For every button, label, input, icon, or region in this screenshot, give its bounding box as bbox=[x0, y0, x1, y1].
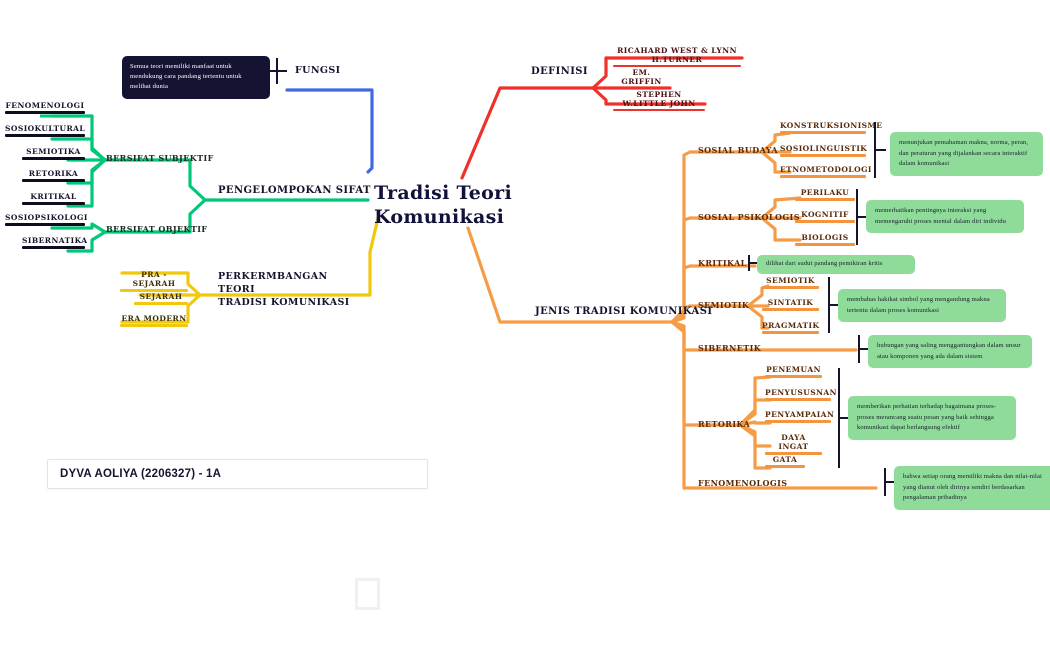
leaf-underline bbox=[22, 179, 85, 182]
center-title: Tradisi Teori Komunikasi bbox=[374, 182, 512, 230]
center-title-line1: Tradisi Teori bbox=[374, 182, 512, 206]
leaf-label: RETORIKA bbox=[22, 169, 85, 179]
leaf-sosiokultural[interactable]: SOSIOKULTURAL bbox=[5, 124, 85, 137]
note-retorika: memberikan perhatian terhadap bagaimana … bbox=[848, 396, 1016, 440]
group-label-semiotik[interactable]: SEMIOTIK bbox=[698, 300, 749, 310]
branch-label-definisi[interactable]: DEFINISI bbox=[531, 66, 588, 77]
author-name-box: DYVA AOLIYA (2206327) - 1A bbox=[47, 459, 428, 489]
leaf-sosiopsikologi[interactable]: SOSIOPSIKOLOGI bbox=[5, 213, 85, 226]
leaf-label: GATA bbox=[765, 455, 805, 465]
leaf-label: DAYA INGAT bbox=[765, 433, 822, 452]
branch-label-pengelompokan-sifat[interactable]: PENGELOMPOKAN SIFAT bbox=[218, 185, 371, 196]
leaf-label: PRA - SEJARAH bbox=[120, 270, 188, 289]
note-sibernetik: hubungan yang saling menggantungkan dala… bbox=[868, 335, 1032, 368]
leaf-label: SIBERNATIKA bbox=[22, 236, 85, 246]
leaf-ricahard-west-lynn-turner[interactable]: RICAHARD WEST & LYNN H.TURNER bbox=[613, 46, 741, 67]
leaf-biologis[interactable]: BIOLOGIS bbox=[795, 233, 855, 246]
leaf-label: PENYAMPAIAN bbox=[765, 410, 831, 420]
leaf-underline bbox=[134, 302, 188, 305]
branch-label-jenis-tradisi[interactable]: JENIS TRADISI KOMUNIKASI bbox=[535, 306, 712, 317]
leaf-label: PENYUSUSNAN bbox=[765, 388, 831, 398]
leaf-label: KOGNITIF bbox=[795, 210, 855, 220]
leaf-underline bbox=[795, 243, 855, 246]
note-semiotik: membahas hakikat simbol yang mengandung … bbox=[838, 289, 1006, 322]
group-label-fenomenologis[interactable]: FENOMENOLOGIS bbox=[698, 478, 787, 488]
leaf-retorika[interactable]: RETORIKA bbox=[22, 169, 85, 182]
leaf-label: SOSIOPSIKOLOGI bbox=[5, 213, 85, 223]
branch-label-bersifat-objektif[interactable]: BERSIFAT OBJEKTIF bbox=[106, 224, 208, 234]
leaf-stephen-w-little-john[interactable]: STEPHEN W.LITTLE JOHN bbox=[613, 90, 705, 111]
leaf-underline bbox=[613, 109, 705, 111]
leaf-underline bbox=[613, 65, 741, 67]
leaf-label: KONSTRUKSIONISME bbox=[780, 121, 866, 131]
mindmap-canvas: Tradisi Teori Komunikasi FUNGSI Semua te… bbox=[0, 0, 1050, 650]
branch-label-perkembangan[interactable]: PERKERMBANGAN TEORI TRADISI KOMUNIKASI bbox=[218, 271, 368, 309]
leaf-label: PENEMUAN bbox=[765, 365, 822, 375]
leaf-underline bbox=[780, 175, 866, 178]
leaf-pra-sejarah[interactable]: PRA - SEJARAH bbox=[120, 270, 188, 292]
leaf-label: SEJARAH bbox=[134, 292, 188, 302]
note-sosial-psikologis: memerhatikan pentingnya interaksi yang m… bbox=[866, 200, 1024, 233]
note-fungsi: Semua teori memiliki manfaat untuk mendu… bbox=[122, 56, 270, 99]
branch-label-bersifat-subjektif[interactable]: BERSIFAT SUBJEKTIF bbox=[106, 153, 214, 163]
note-fenomenologis: bahwa setiap orang memiliki makna dan ni… bbox=[894, 466, 1050, 510]
leaf-label: SEMIOTIKA bbox=[22, 147, 85, 157]
author-name-text: DYVA AOLIYA (2206327) - 1A bbox=[60, 468, 221, 480]
leaf-kognitif[interactable]: KOGNITIF bbox=[795, 210, 855, 223]
leaf-sosiolinguistik[interactable]: SOSIOLINGUISTIK bbox=[780, 144, 866, 157]
leaf-label: PRAGMATIK bbox=[762, 321, 819, 331]
leaf-label: EM. GRIFFIN bbox=[613, 68, 670, 87]
leaf-penyususnan[interactable]: PENYUSUSNAN bbox=[765, 388, 831, 401]
leaf-semiotika[interactable]: SEMIOTIKA bbox=[22, 147, 85, 160]
leaf-penyampaian[interactable]: PENYAMPAIAN bbox=[765, 410, 831, 423]
leaf-underline bbox=[22, 246, 85, 249]
leaf-underline bbox=[762, 308, 819, 311]
leaf-kritikal[interactable]: KRITIKAL bbox=[22, 192, 85, 205]
group-label-sosial-budaya[interactable]: SOSIAL BUDAYA bbox=[698, 145, 778, 155]
leaf-underline bbox=[765, 398, 831, 401]
leaf-perilaku[interactable]: PERILAKU bbox=[795, 188, 855, 201]
leaf-label: FENOMENOLOGI bbox=[5, 101, 85, 111]
leaf-label: RICAHARD WEST & LYNN H.TURNER bbox=[613, 46, 741, 65]
leaf-label: BIOLOGIS bbox=[795, 233, 855, 243]
leaf-label: SINTATIK bbox=[762, 298, 819, 308]
leaf-underline bbox=[22, 157, 85, 160]
leaf-underline bbox=[762, 286, 819, 289]
leaf-underline bbox=[762, 331, 819, 334]
leaf-era-modern[interactable]: ERA MODERN bbox=[120, 314, 188, 327]
leaf-underline bbox=[795, 220, 855, 223]
leaf-underline bbox=[22, 202, 85, 205]
perkembangan-line2: TRADISI KOMUNIKASI bbox=[218, 297, 350, 308]
perkembangan-line1: PERKERMBANGAN TEORI bbox=[218, 271, 328, 295]
leaf-underline bbox=[765, 465, 805, 468]
leaf-underline bbox=[613, 87, 670, 89]
leaf-label: PERILAKU bbox=[795, 188, 855, 198]
branch-label-fungsi[interactable]: FUNGSI bbox=[295, 65, 341, 76]
leaf-label: SOSIOLINGUISTIK bbox=[780, 144, 866, 154]
leaf-konstruksionisme[interactable]: KONSTRUKSIONISME bbox=[780, 121, 866, 134]
leaf-etnometodologi[interactable]: ETNOMETODOLOGI bbox=[780, 165, 866, 178]
note-kritikal: dilihat dari sudut pandang pemikiran kri… bbox=[757, 255, 915, 274]
leaf-label: SEMIOTIK bbox=[762, 276, 819, 286]
leaf-sejarah[interactable]: SEJARAH bbox=[134, 292, 188, 305]
leaf-label: STEPHEN W.LITTLE JOHN bbox=[613, 90, 705, 109]
group-label-retorika[interactable]: RETORIKA bbox=[698, 419, 750, 429]
placeholder-glyph-icon bbox=[355, 578, 380, 610]
leaf-underline bbox=[120, 324, 188, 327]
group-label-kritikal[interactable]: KRITIKAL bbox=[698, 258, 747, 268]
leaf-label: ETNOMETODOLOGI bbox=[780, 165, 866, 175]
group-label-sibernetik[interactable]: SIBERNETIK bbox=[698, 343, 761, 353]
leaf-label: KRITIKAL bbox=[22, 192, 85, 202]
leaf-underline bbox=[5, 111, 85, 114]
leaf-gata[interactable]: GATA bbox=[765, 455, 805, 468]
leaf-penemuan[interactable]: PENEMUAN bbox=[765, 365, 822, 378]
leaf-underline bbox=[765, 420, 831, 423]
leaf-label: SOSIOKULTURAL bbox=[5, 124, 85, 134]
leaf-underline bbox=[795, 198, 855, 201]
leaf-pragmatik[interactable]: PRAGMATIK bbox=[762, 321, 819, 334]
group-label-text: RETORIKA bbox=[698, 419, 750, 429]
leaf-em-griffin[interactable]: EM. GRIFFIN bbox=[613, 68, 670, 89]
note-sosial-budaya: menunjukan pemahaman makna, norma, peran… bbox=[890, 132, 1043, 176]
leaf-sibernatika[interactable]: SIBERNATIKA bbox=[22, 236, 85, 249]
leaf-underline bbox=[765, 375, 822, 378]
leaf-sintatik[interactable]: SINTATIK bbox=[762, 298, 819, 311]
leaf-underline bbox=[780, 131, 866, 134]
leaf-underline bbox=[5, 134, 85, 137]
leaf-label: ERA MODERN bbox=[120, 314, 188, 324]
group-label-sosial-psikologis[interactable]: SOSIAL PSIKOLOGIS bbox=[698, 212, 800, 222]
leaf-underline bbox=[780, 154, 866, 157]
leaf-underline bbox=[5, 223, 85, 226]
leaf-fenomenologi[interactable]: FENOMENOLOGI bbox=[5, 101, 85, 114]
center-title-line2: Komunikasi bbox=[374, 206, 512, 230]
leaf-semiotik-sub[interactable]: SEMIOTIK bbox=[762, 276, 819, 289]
leaf-daya-ingat[interactable]: DAYA INGAT bbox=[765, 433, 822, 455]
